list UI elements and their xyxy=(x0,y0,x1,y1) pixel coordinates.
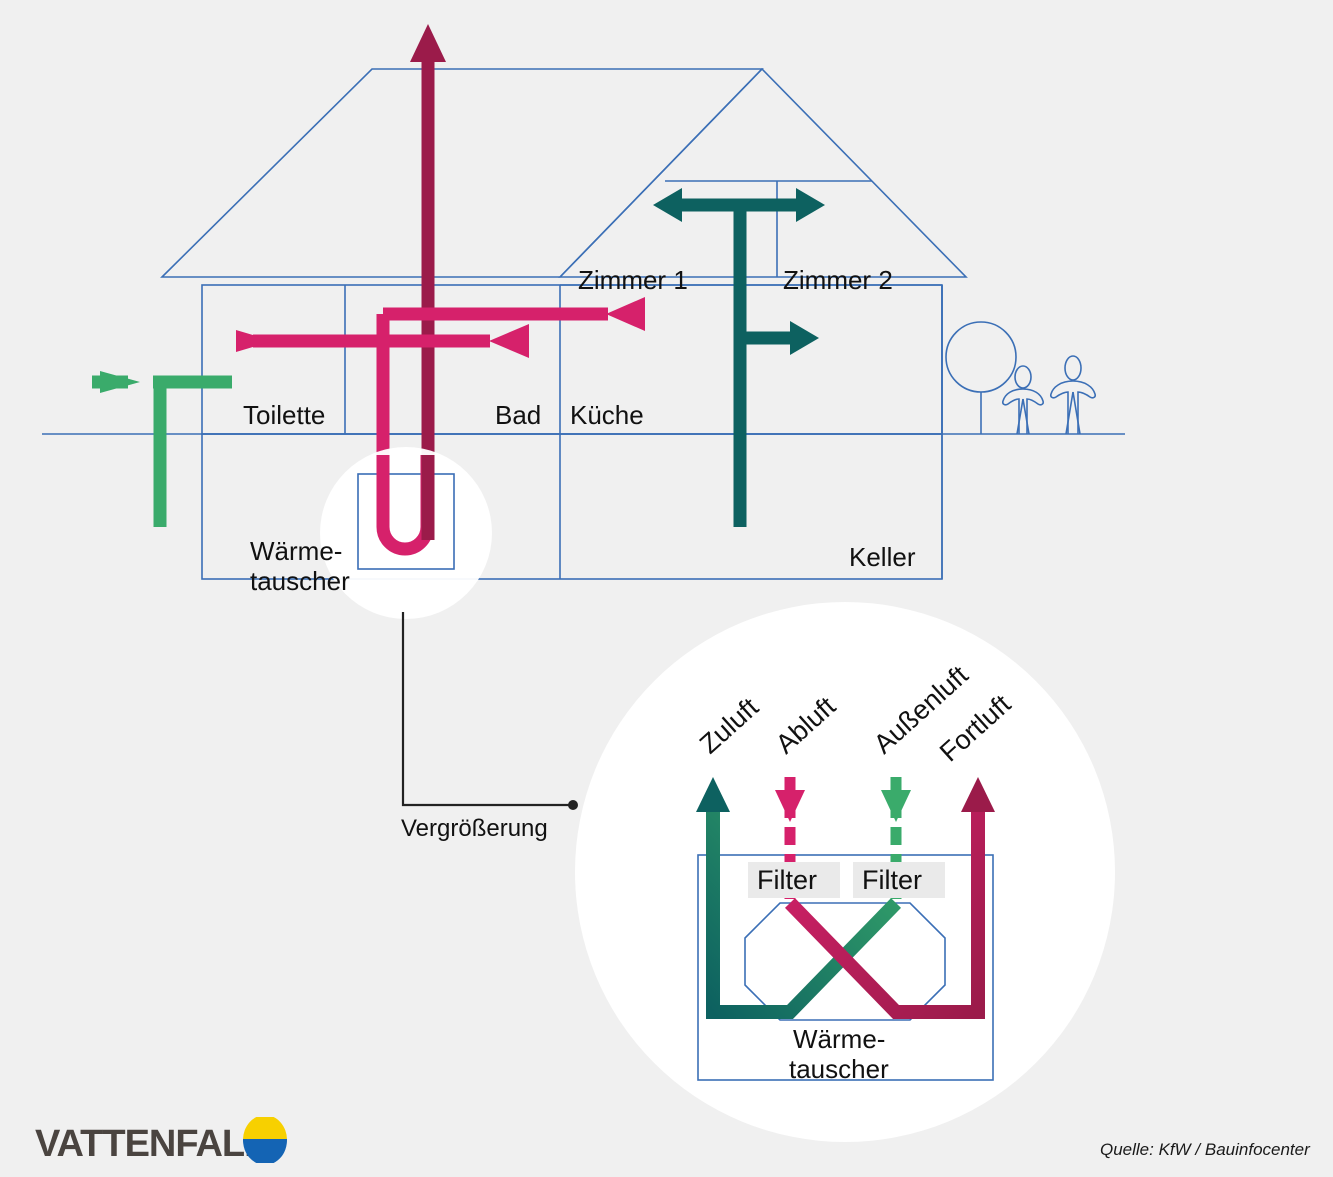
source-credit: Quelle: KfW / Bauinfocenter xyxy=(1100,1140,1311,1159)
exchanger-label-house-line2: tauscher xyxy=(250,566,350,596)
filter-label-abluft: Filter xyxy=(757,865,817,895)
room-label-zimmer1: Zimmer 1 xyxy=(578,265,688,295)
room-label-zimmer2: Zimmer 2 xyxy=(783,265,893,295)
detail-exchanger-label-line1: Wärme- xyxy=(793,1024,885,1054)
room-label-kueche: Küche xyxy=(570,400,644,430)
diagram-canvas: Zimmer 1 Zimmer 2 Toilette Bad Küche Kel… xyxy=(0,0,1333,1177)
filter-label-aussenluft: Filter xyxy=(862,865,922,895)
room-label-bad: Bad xyxy=(495,400,541,430)
room-label-toilette: Toilette xyxy=(243,400,325,430)
callout-label: Vergrößerung xyxy=(401,815,548,842)
vattenfall-wordmark: VATTENFALL xyxy=(35,1123,267,1165)
room-label-keller: Keller xyxy=(849,542,916,572)
exchanger-label-house-line1: Wärme- xyxy=(250,536,342,566)
vattenfall-logo: VATTENFALL xyxy=(35,1115,287,1165)
detail-exchanger-label-line2: tauscher xyxy=(789,1054,889,1084)
